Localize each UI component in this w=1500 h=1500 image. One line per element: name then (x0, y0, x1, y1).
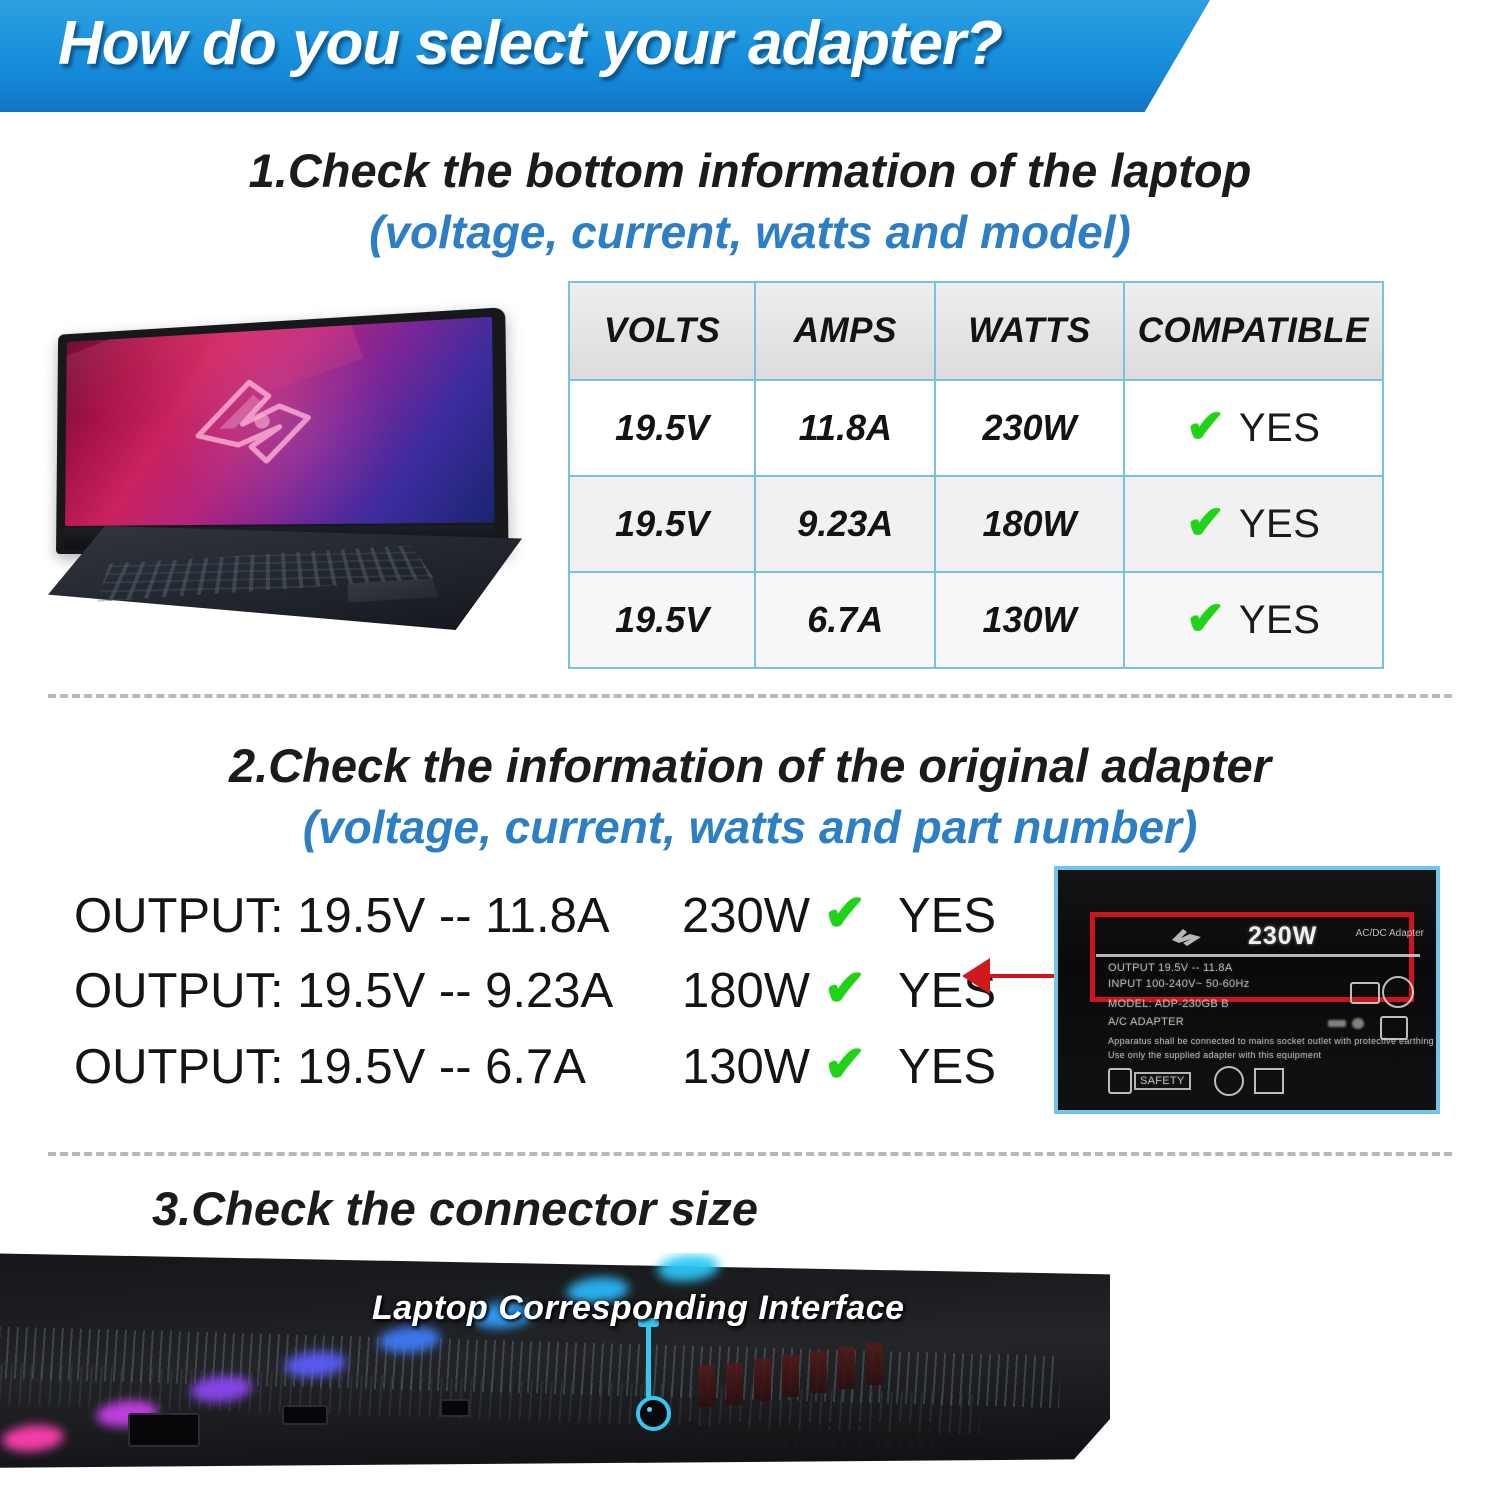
step-1-title: 1.Check the bottom information of the la… (0, 143, 1500, 198)
header-banner: How do you select your adapter? (0, 0, 1210, 112)
step-1-subtitle: (voltage, current, watts and model) (0, 205, 1500, 259)
compatible-value: YES (1239, 502, 1321, 547)
cell-compatible: ✔ YES (1124, 380, 1383, 476)
laptop-screen (65, 317, 495, 526)
label-rule (1096, 954, 1420, 957)
check-icon: ✔ (1186, 499, 1225, 545)
cell-watts: 180W (935, 476, 1123, 572)
page-title: How do you select your adapter? (58, 8, 1002, 79)
cell-amps: 6.7A (755, 572, 935, 668)
table-header-row: VOLTS AMPS WATTS COMPATIBLE (569, 282, 1383, 380)
table-row: 19.5V 11.8A 230W ✔ YES (569, 380, 1383, 476)
safety-mark: SAFETY (1134, 1072, 1191, 1090)
check-icon: ✔ (824, 884, 866, 942)
adapter-watts-2: 180W (682, 963, 810, 1019)
cell-compatible: ✔ YES (1124, 476, 1383, 572)
n-mark-icon (1214, 1066, 1244, 1096)
rear-vent-fin (726, 1363, 743, 1405)
plug-icon (1382, 976, 1414, 1008)
adapter-watts-1: 230W (682, 888, 810, 944)
adapter-label-model-line: MODEL: ADP-230GB B (1108, 998, 1229, 1010)
adapter-output-2: OUTPUT: 19.5V -- 9.23A (74, 963, 613, 1019)
rear-vent-fin (754, 1359, 771, 1401)
compatible-value: YES (1239, 406, 1321, 451)
laptop-lid (56, 307, 509, 554)
check-icon: ✔ (1186, 403, 1225, 449)
adapter-watts-3: 130W (682, 1039, 810, 1095)
column-header-compatible: COMPATIBLE (1124, 282, 1383, 380)
adapter-label-note-2: Use only the supplied adapter with this … (1108, 1050, 1321, 1060)
adapter-compatible-3: YES (898, 1039, 996, 1095)
cell-watts: 130W (935, 572, 1123, 668)
infographic-page: How do you select your adapter? 1.Check … (0, 0, 1500, 1500)
cell-amps: 11.8A (755, 380, 935, 476)
adapter-output-3: OUTPUT: 19.5V -- 6.7A (74, 1039, 586, 1095)
adapter-label-photo: 230W AC/DC Adapter OUTPUT 19.5V -- 11.8A… (1054, 866, 1440, 1114)
rear-vent-fin (698, 1365, 715, 1407)
cell-compatible: ✔ YES (1124, 572, 1383, 668)
cell-volts: 19.5V (569, 380, 755, 476)
adapter-label-output-line: OUTPUT 19.5V -- 11.8A (1108, 962, 1233, 974)
rog-logo-icon (188, 361, 352, 482)
section-divider-1 (48, 694, 1452, 698)
polarity-center-icon (1352, 1018, 1364, 1029)
polarity-icon (1328, 1020, 1346, 1027)
column-header-amps: AMPS (755, 282, 935, 380)
cell-watts: 230W (935, 380, 1123, 476)
laptop-illustration (48, 330, 528, 630)
step-3-title: 3.Check the connector size (152, 1181, 758, 1236)
adapter-label-watts: 230W (1248, 922, 1317, 951)
dc-jack-highlight (636, 1396, 671, 1431)
compatible-value: YES (1239, 598, 1321, 643)
cell-volts: 19.5V (569, 476, 755, 572)
rear-vent-fin (782, 1355, 799, 1397)
rear-vent-fin (810, 1351, 827, 1393)
house-icon (1380, 1016, 1408, 1040)
column-header-volts: VOLTS (569, 282, 755, 380)
step-2-title: 2.Check the information of the original … (0, 738, 1500, 793)
pointer-arrow-head-icon (962, 958, 990, 994)
table-row: 19.5V 9.23A 180W ✔ YES (569, 476, 1383, 572)
connector-size-label: 6.0MM*3.7MM (680, 1415, 938, 1458)
cell-amps: 9.23A (755, 476, 935, 572)
step-2-subtitle: (voltage, current, watts and part number… (0, 800, 1500, 854)
usb-port (128, 1413, 200, 1447)
adapter-label-input-line: INPUT 100-240V~ 50-60Hz (1108, 978, 1250, 990)
adapter-output-1: OUTPUT: 19.5V -- 11.8A (74, 888, 610, 944)
class2-icon (1350, 982, 1380, 1004)
column-header-watts: WATTS (935, 282, 1123, 380)
rear-vent-fin (838, 1347, 855, 1389)
recycle-icon (1108, 1068, 1132, 1094)
adapter-label-acdc: AC/DC Adapter (1356, 928, 1424, 939)
section-divider-2 (48, 1152, 1452, 1156)
ce-mark-icon (1296, 1068, 1330, 1090)
check-icon: ✔ (1186, 595, 1225, 641)
check-icon: ✔ (824, 959, 866, 1017)
spec-table: VOLTS AMPS WATTS COMPATIBLE 19.5V 11.8A … (568, 281, 1384, 669)
hdmi-port (282, 1405, 328, 1425)
adapter-label-type-line: A/C ADAPTER (1108, 1016, 1184, 1028)
callout-line (646, 1322, 651, 1400)
check-icon: ✔ (824, 1035, 866, 1093)
cell-volts: 19.5V (569, 572, 755, 668)
adapter-compatible-1: YES (898, 888, 996, 944)
usbc-port (440, 1399, 470, 1417)
rear-vent-fin (866, 1343, 883, 1385)
table-row: 19.5V 6.7A 130W ✔ YES (569, 572, 1383, 668)
a-tick-icon (1254, 1068, 1284, 1094)
interface-label: Laptop Corresponding Interface (372, 1289, 905, 1328)
